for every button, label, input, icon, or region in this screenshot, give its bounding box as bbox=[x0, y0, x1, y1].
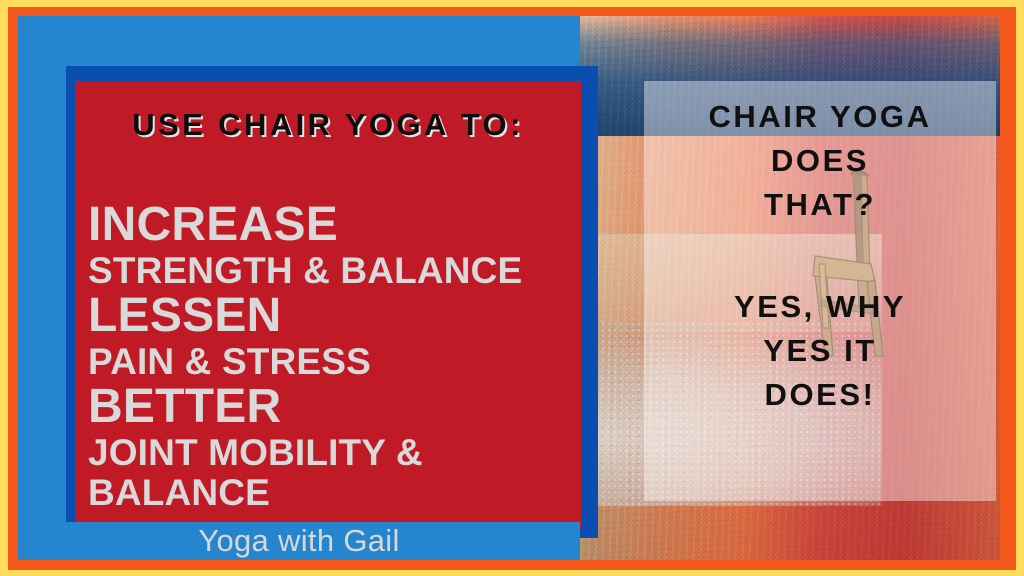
right-copy-line-2: DOES bbox=[644, 139, 996, 183]
benefit-item: BETTER JOINT MOBILITY & BALANCE bbox=[88, 383, 576, 511]
right-copy-block: CHAIR YOGA DOES THAT? YES, WHY YES IT DO… bbox=[644, 95, 996, 417]
benefit-detail: JOINT MOBILITY & BALANCE bbox=[88, 433, 576, 511]
brand-name: Yoga with Gail bbox=[198, 523, 399, 559]
poster-canvas: CHAIR YOGA DOES THAT? YES, WHY YES IT DO… bbox=[0, 0, 1024, 576]
benefit-item: LESSEN PAIN & STRESS bbox=[88, 292, 576, 381]
benefit-item: INCREASE STRENGTH & BALANCE bbox=[88, 201, 576, 290]
right-copy-line-5: YES IT bbox=[644, 329, 996, 373]
benefit-detail: STRENGTH & BALANCE bbox=[88, 251, 576, 290]
benefit-heading: LESSEN bbox=[88, 292, 576, 341]
left-blue-card: USE CHAIR YOGA TO: INCREASE STRENGTH & B… bbox=[18, 16, 580, 560]
page-title: USE CHAIR YOGA TO: bbox=[75, 101, 581, 148]
benefit-detail: PAIN & STRESS bbox=[88, 342, 576, 381]
benefit-heading: INCREASE bbox=[88, 201, 576, 250]
right-copy-line-4: YES, WHY bbox=[644, 285, 996, 329]
benefits-list: INCREASE STRENGTH & BALANCE LESSEN PAIN … bbox=[88, 201, 576, 514]
brand-bar: Yoga with Gail bbox=[18, 522, 580, 560]
right-copy-spacer bbox=[644, 227, 996, 285]
left-red-panel: USE CHAIR YOGA TO: INCREASE STRENGTH & B… bbox=[75, 81, 581, 529]
right-copy-line-3: THAT? bbox=[644, 183, 996, 227]
right-copy-line-1: CHAIR YOGA bbox=[644, 95, 996, 139]
right-copy-line-6: DOES! bbox=[644, 373, 996, 417]
benefit-heading: BETTER bbox=[88, 383, 576, 432]
